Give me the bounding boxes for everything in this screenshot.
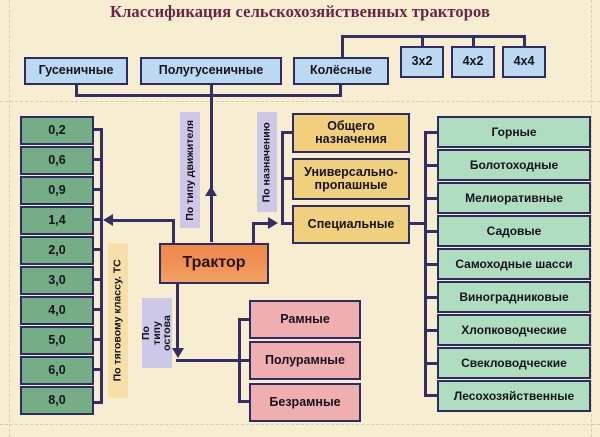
branch-label-traction-class-text: По тяговому классу. ТС [113, 259, 124, 381]
propulsion-box-wheeled[interactable]: Колёсные [293, 57, 389, 85]
connector-special-stub-1 [424, 131, 439, 134]
connector-frame-stub-framed [238, 318, 251, 321]
connector-traction-stub-1 [94, 128, 102, 131]
branch-label-propulsion-text: По типу движителя [185, 120, 196, 221]
connector-wheeled-riser [341, 35, 344, 59]
page-title: Классификация сельскохозяйственных тракт… [0, 2, 600, 22]
connector-purpose-stub-universal [281, 177, 294, 180]
wheel-formula-box-4x4[interactable]: 4x4 [502, 46, 546, 78]
connector-traction-stub-9 [94, 368, 102, 371]
traction-class-box-6[interactable]: 3,0 [20, 266, 94, 295]
page-guide-right [591, 0, 592, 437]
connector-special-stub-6 [424, 296, 439, 299]
connector-frame-stub-frameless [238, 400, 251, 403]
page-guide-top [0, 101, 600, 102]
connector-special-stub-3 [424, 197, 439, 200]
special-type-box-6[interactable]: Виноградниковые [437, 281, 591, 313]
connector-traction-stub-7 [94, 308, 102, 311]
special-type-box-1[interactable]: Горные [437, 116, 591, 148]
branch-label-purpose: По назначению [257, 112, 277, 212]
propulsion-box-tracked[interactable]: Гусеничные [24, 57, 128, 85]
branch-label-frame-text: По типу остова [141, 315, 173, 351]
connector-traction-stub-8 [94, 338, 102, 341]
special-type-box-5[interactable]: Самоходные шасси [437, 248, 591, 280]
arrow-propulsion-up [205, 186, 217, 196]
traction-class-box-2[interactable]: 0,6 [20, 146, 94, 175]
connector-traction-stub-3 [94, 188, 102, 191]
connector-tractor-to-traction-h [113, 219, 175, 222]
traction-class-box-4[interactable]: 1,4 [20, 206, 94, 235]
propulsion-box-half-tracked[interactable]: Полугусеничные [140, 57, 282, 85]
wheel-formula-box-3x2[interactable]: 3x2 [400, 46, 444, 78]
tractor-root-box[interactable]: Трактор [159, 243, 269, 284]
purpose-box-special[interactable]: Специальные [292, 205, 410, 244]
arrow-purpose-right [268, 217, 278, 229]
connector-traction-spine [100, 128, 103, 404]
branch-label-frame: По типу остова [142, 298, 172, 368]
traction-class-box-5[interactable]: 2,0 [20, 236, 94, 265]
arrow-frame-down [172, 348, 184, 358]
connector-purpose-stub-general [281, 131, 294, 134]
connector-tractor-to-purpose-v [252, 222, 255, 245]
connector-special-stub-4 [424, 230, 439, 233]
purpose-box-universal-row-crop[interactable]: Универсально-пропашные [292, 158, 410, 200]
connector-formula-4x4-drop [523, 35, 526, 48]
connector-purpose-stub-special [281, 222, 294, 225]
special-type-box-3[interactable]: Мелиоративные [437, 182, 591, 214]
arrow-traction-left [103, 214, 113, 226]
connector-traction-stub-10 [94, 401, 102, 404]
connector-special-stub-9 [424, 394, 439, 397]
branch-label-purpose-text: По назначению [262, 122, 273, 202]
connector-frame-bus-h [176, 359, 240, 362]
branch-label-traction-class: По тяговому классу. ТС [108, 243, 128, 398]
connector-traction-stub-6 [94, 278, 102, 281]
special-type-box-2[interactable]: Болотоходные [437, 149, 591, 181]
special-type-box-4[interactable]: Садовые [437, 215, 591, 247]
connector-tractor-to-traction-v [172, 219, 175, 246]
frame-type-box-frameless[interactable]: Безрамные [249, 383, 361, 422]
connector-formula-4x2-drop [472, 35, 475, 48]
purpose-box-general[interactable]: Общего назначения [292, 113, 410, 153]
frame-type-box-framed[interactable]: Рамные [249, 300, 361, 339]
connector-traction-stub-5 [94, 248, 102, 251]
connector-formula-3x2-drop [421, 35, 424, 48]
connector-tractor-to-frame-v [176, 284, 179, 352]
connector-special-stub-7 [424, 329, 439, 332]
page-guide-bottom [0, 424, 600, 425]
traction-class-box-8[interactable]: 5,0 [20, 326, 94, 355]
frame-type-box-semi-framed[interactable]: Полурамные [249, 341, 361, 380]
wheel-formula-box-4x2[interactable]: 4x2 [451, 46, 495, 78]
special-type-box-7[interactable]: Хлопководческие [437, 314, 591, 346]
connector-special-stub-2 [424, 164, 439, 167]
traction-class-box-10[interactable]: 8,0 [20, 386, 94, 415]
special-type-box-8[interactable]: Свекловодческие [437, 347, 591, 379]
connector-propulsion-to-tractor-vert [210, 94, 213, 242]
traction-class-box-9[interactable]: 6,0 [20, 356, 94, 385]
traction-class-box-7[interactable]: 4,0 [20, 296, 94, 325]
connector-special-stub-5 [424, 263, 439, 266]
branch-label-propulsion: По типу движителя [180, 112, 200, 228]
connector-special-to-column [409, 222, 426, 225]
connector-propulsion-bus-h [75, 94, 342, 97]
connector-traction-stub-2 [94, 158, 102, 161]
special-type-box-9[interactable]: Лесохозяйственные [437, 380, 591, 412]
connector-wheeled-bus-h [341, 35, 525, 38]
traction-class-box-1[interactable]: 0,2 [20, 116, 94, 145]
traction-class-box-3[interactable]: 0,9 [20, 176, 94, 205]
diagram-canvas: Классификация сельскохозяйственных тракт… [0, 0, 600, 437]
connector-traction-stub-4 [94, 218, 102, 221]
connector-special-stub-8 [424, 362, 439, 365]
page-guide-left [9, 0, 10, 437]
